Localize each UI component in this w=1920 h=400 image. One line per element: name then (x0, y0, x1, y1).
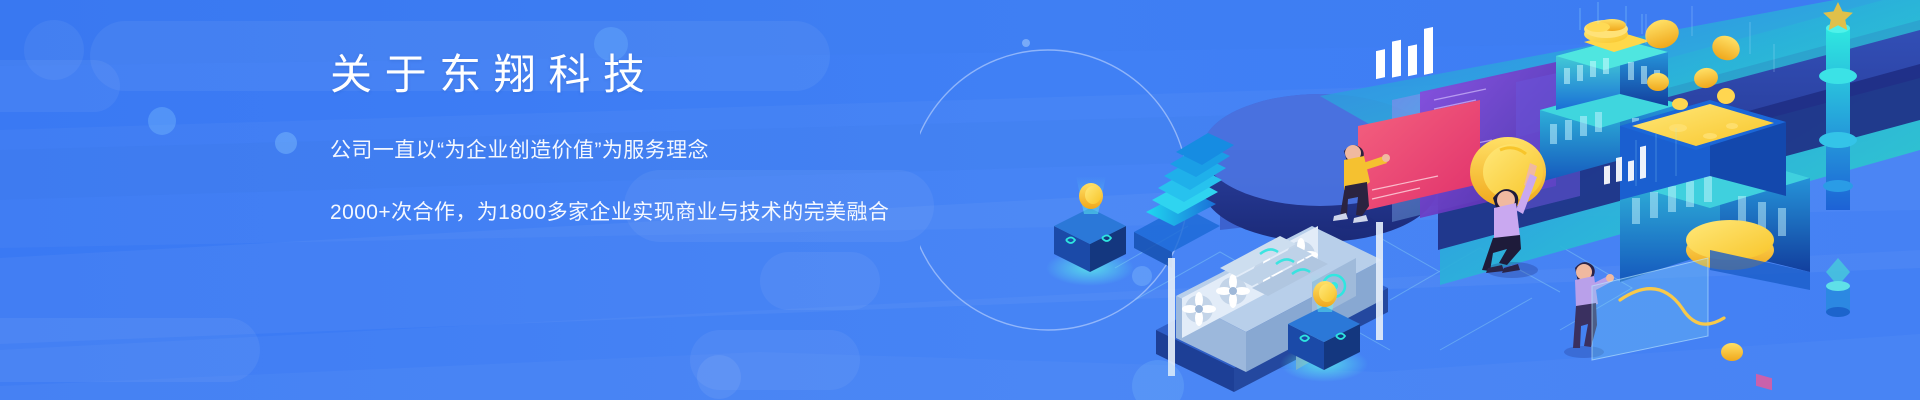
decorative-circle-1 (24, 20, 84, 80)
banner-subtitle-line-2: 2000+次合作，为1800多家企业实现商业与技术的完美融合 (330, 202, 970, 223)
glow-pedestal-coin-left (1046, 176, 1134, 286)
decorative-rounded-bar-6 (0, 318, 260, 382)
banner-copy-block: 关于东翔科技 公司一直以“为企业创造价值”为服务理念 2000+次合作，为180… (330, 54, 970, 223)
decorative-circle-7 (697, 355, 741, 399)
decorative-rounded-bar-4 (760, 252, 880, 310)
page-title: 关于东翔科技 (330, 54, 970, 96)
banner-subtitle-line-1: 公司一直以“为企业创造价值”为服务理念 (330, 140, 970, 161)
decorative-circle-2 (148, 107, 176, 135)
decorative-circle-outline (920, 50, 1188, 330)
isometric-fintech-city-illustration (920, 0, 1920, 400)
decorative-circle-3 (275, 132, 297, 154)
about-us-hero-banner: 关于东翔科技 公司一直以“为企业创造价值”为服务理念 2000+次合作，为180… (0, 0, 1920, 400)
